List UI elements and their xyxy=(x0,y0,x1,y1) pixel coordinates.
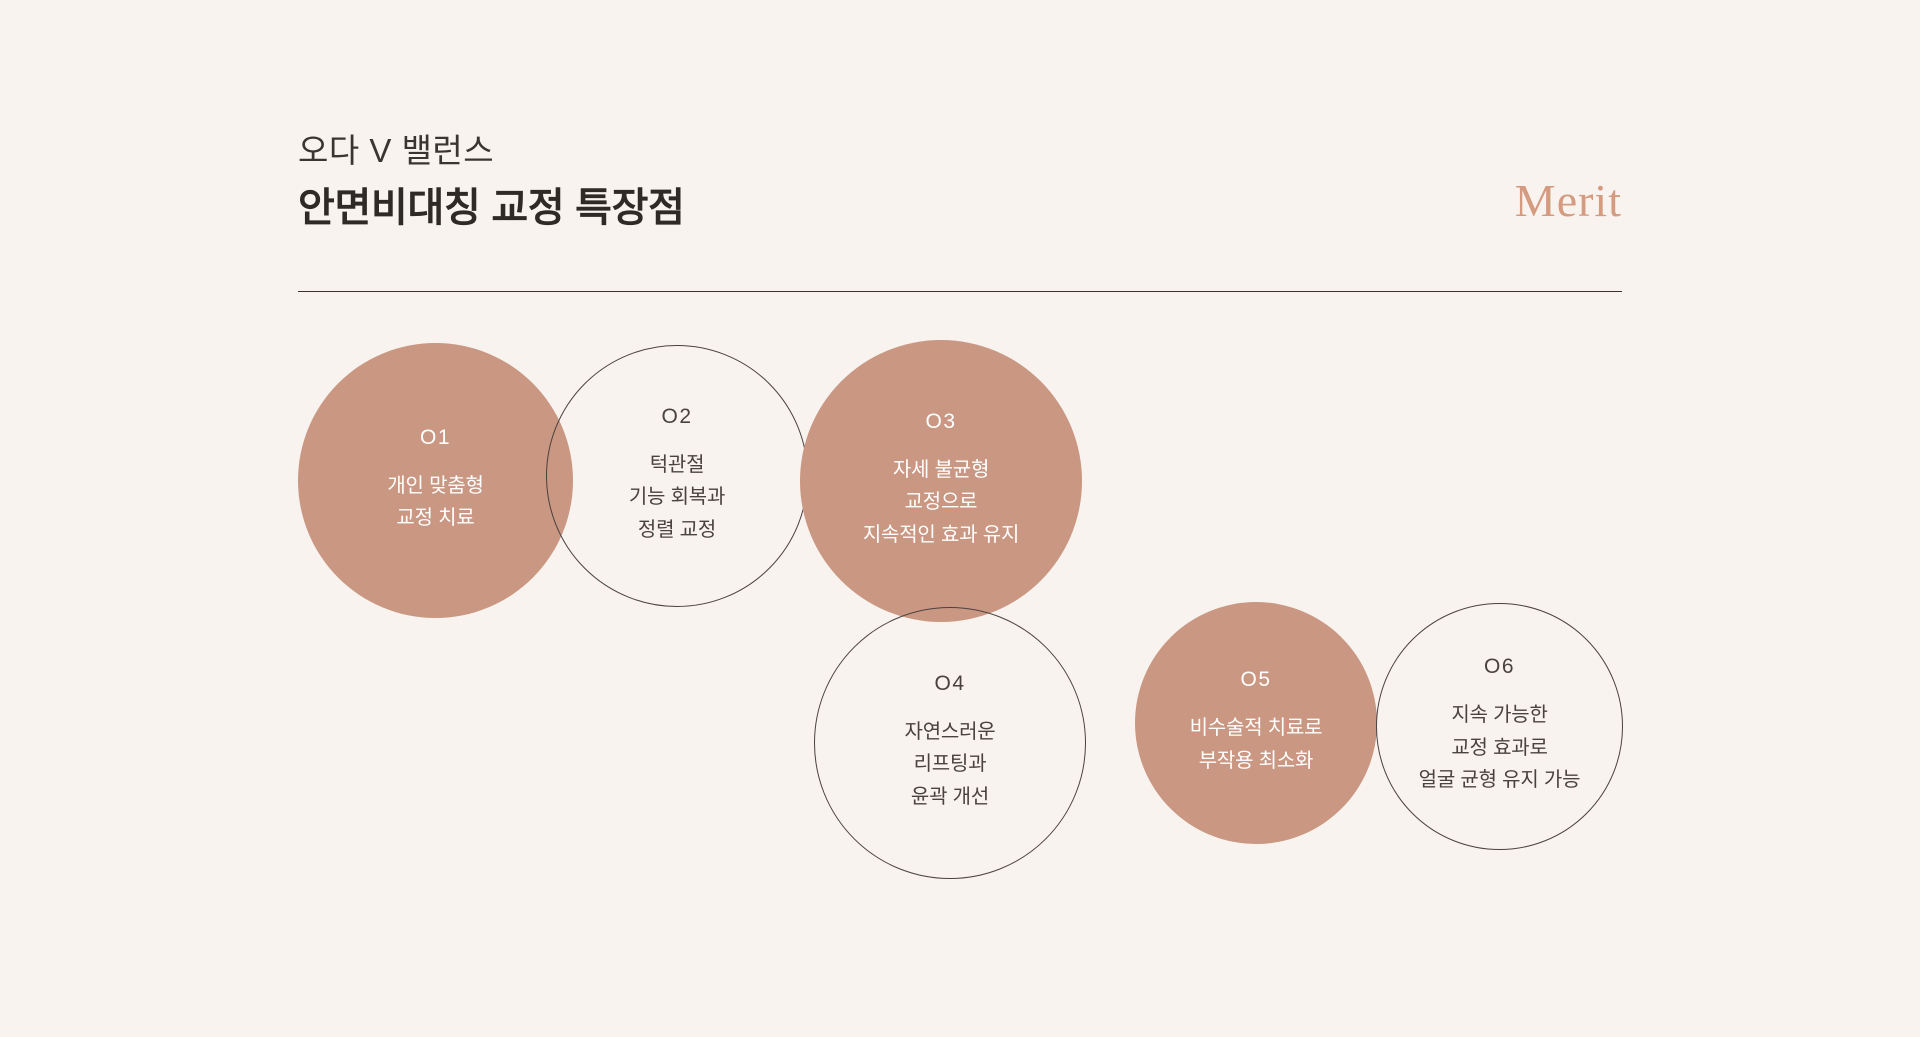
merit-number-2: O2 xyxy=(661,406,692,427)
merit-circle-4: O4 자연스러운 리프팅과 윤곽 개선 xyxy=(814,607,1086,879)
merit-circle-6: O6 지속 가능한 교정 효과로 얼굴 균형 유지 가능 xyxy=(1376,603,1623,850)
merit-text-1: 개인 맞춤형 교정 치료 xyxy=(387,470,483,535)
merit-number-3: O3 xyxy=(925,411,956,432)
merit-text-2: 턱관절 기능 회복과 정렬 교정 xyxy=(629,449,725,546)
merit-circle-1: O1 개인 맞춤형 교정 치료 xyxy=(298,343,573,618)
merit-circle-2: O2 턱관절 기능 회복과 정렬 교정 xyxy=(546,345,808,607)
merit-text-4: 자연스러운 리프팅과 윤곽 개선 xyxy=(905,716,996,813)
merit-number-1: O1 xyxy=(420,427,451,448)
merit-circle-cluster: O1 개인 맞춤형 교정 치료 O2 턱관절 기능 회복과 정렬 교정 O3 자… xyxy=(0,0,1920,1037)
merit-text-6: 지속 가능한 교정 효과로 얼굴 균형 유지 가능 xyxy=(1419,699,1581,796)
merit-number-6: O6 xyxy=(1484,656,1515,677)
merit-circle-5: O5 비수술적 치료로 부작용 최소화 xyxy=(1135,602,1377,844)
merit-text-3: 자세 불균형 교정으로 지속적인 효과 유지 xyxy=(863,454,1019,551)
merit-slide: 오다 V 밸런스 안면비대칭 교정 특장점 Merit O1 개인 맞춤형 교정… xyxy=(0,0,1920,1037)
merit-text-5: 비수술적 치료로 부작용 최소화 xyxy=(1190,712,1323,777)
merit-number-5: O5 xyxy=(1240,669,1271,690)
merit-number-4: O4 xyxy=(934,673,965,694)
merit-circle-3: O3 자세 불균형 교정으로 지속적인 효과 유지 xyxy=(800,340,1082,622)
